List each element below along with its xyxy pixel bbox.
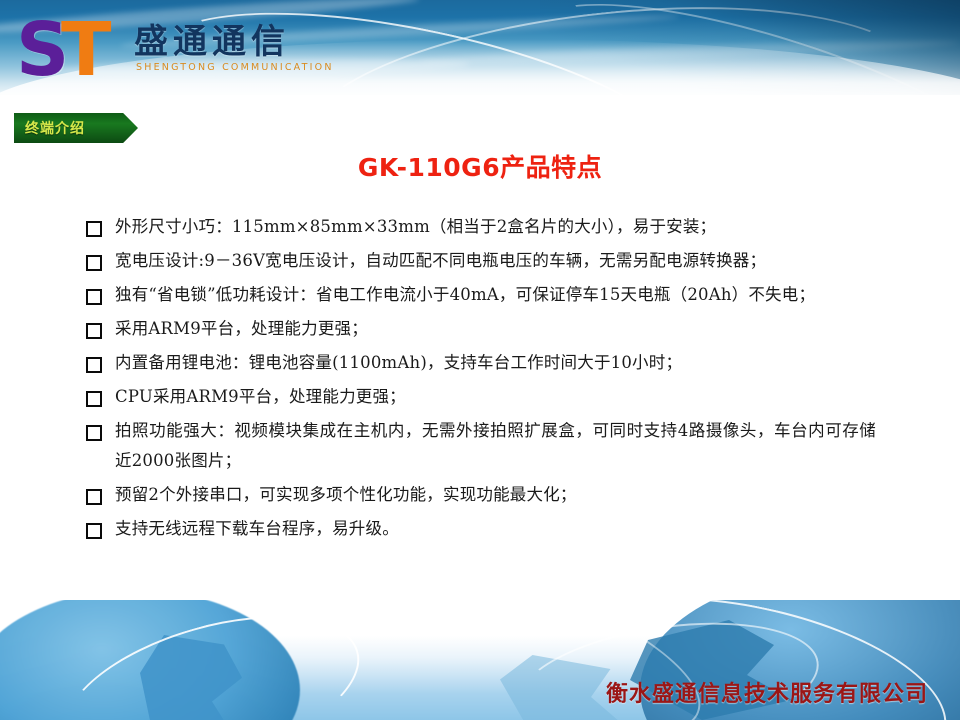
list-item: 内置备用锂电池：锂电池容量(1100mAh)，支持车台工作时间大于10小时； — [86, 348, 876, 378]
square-bullet-icon — [86, 391, 102, 407]
list-item: 拍照功能强大：视频模块集成在主机内，无需外接拍照扩展盒，可同时支持4路摄像头，车… — [86, 416, 876, 476]
list-item-label: 独有“省电锁”低功耗设计：省电工作电流小于40mA，可保证停车15天电瓶（20A… — [115, 280, 876, 310]
logo-letter-s: S — [16, 19, 65, 81]
list-item: 支持无线远程下载车台程序，易升级。 — [86, 514, 876, 544]
list-item: 采用ARM9平台，处理能力更强； — [86, 314, 876, 344]
page-title: GK-110G6产品特点 — [0, 148, 960, 184]
logo-wordmark: 盛通通信 SHENGTONG COMMUNICATION — [134, 23, 334, 74]
list-item-label: 拍照功能强大：视频模块集成在主机内，无需外接拍照扩展盒，可同时支持4路摄像头，车… — [115, 416, 876, 476]
square-bullet-icon — [86, 489, 102, 505]
square-bullet-icon — [86, 255, 102, 271]
logo-monogram-icon: S T — [16, 17, 128, 79]
feature-list: 外形尺寸小巧：115mm×85mm×33mm（相当于2盒名片的大小），易于安装；… — [86, 212, 876, 548]
logo-company-name-en: SHENGTONG COMMUNICATION — [136, 62, 334, 74]
square-bullet-icon — [86, 221, 102, 237]
square-bullet-icon — [86, 523, 102, 539]
section-tag-label: 终端介绍 — [14, 118, 85, 138]
list-item-label: 宽电压设计:9－36V宽电压设计，自动匹配不同电瓶电压的车辆，无需另配电源转换器… — [115, 246, 876, 276]
list-item-label: 预留2个外接串口，可实现多项个性化功能，实现功能最大化； — [115, 480, 876, 510]
square-bullet-icon — [86, 357, 102, 373]
list-item: 独有“省电锁”低功耗设计：省电工作电流小于40mA，可保证停车15天电瓶（20A… — [86, 280, 876, 310]
list-item-label: 内置备用锂电池：锂电池容量(1100mAh)，支持车台工作时间大于10小时； — [115, 348, 876, 378]
company-logo: S T 盛通通信 SHENGTONG COMMUNICATION — [16, 16, 334, 80]
slide: S T 盛通通信 SHENGTONG COMMUNICATION 终端介绍 GK… — [0, 0, 960, 720]
square-bullet-icon — [86, 289, 102, 305]
list-item-label: 外形尺寸小巧：115mm×85mm×33mm（相当于2盒名片的大小），易于安装； — [115, 212, 876, 242]
section-tag: 终端介绍 — [14, 113, 138, 143]
list-item-label: CPU采用ARM9平台，处理能力更强； — [115, 382, 876, 412]
list-item-label: 支持无线远程下载车台程序，易升级。 — [115, 514, 876, 544]
list-item: 宽电压设计:9－36V宽电压设计，自动匹配不同电瓶电压的车辆，无需另配电源转换器… — [86, 246, 876, 276]
list-item: 外形尺寸小巧：115mm×85mm×33mm（相当于2盒名片的大小），易于安装； — [86, 212, 876, 242]
list-item: CPU采用ARM9平台，处理能力更强； — [86, 382, 876, 412]
square-bullet-icon — [86, 425, 102, 441]
list-item-label: 采用ARM9平台，处理能力更强； — [115, 314, 876, 344]
logo-company-name-cn: 盛通通信 — [134, 23, 334, 61]
footer-company-name: 衡水盛通信息技术服务有限公司 — [606, 676, 928, 708]
logo-letter-t: T — [61, 19, 109, 81]
list-item: 预留2个外接串口，可实现多项个性化功能，实现功能最大化； — [86, 480, 876, 510]
square-bullet-icon — [86, 323, 102, 339]
